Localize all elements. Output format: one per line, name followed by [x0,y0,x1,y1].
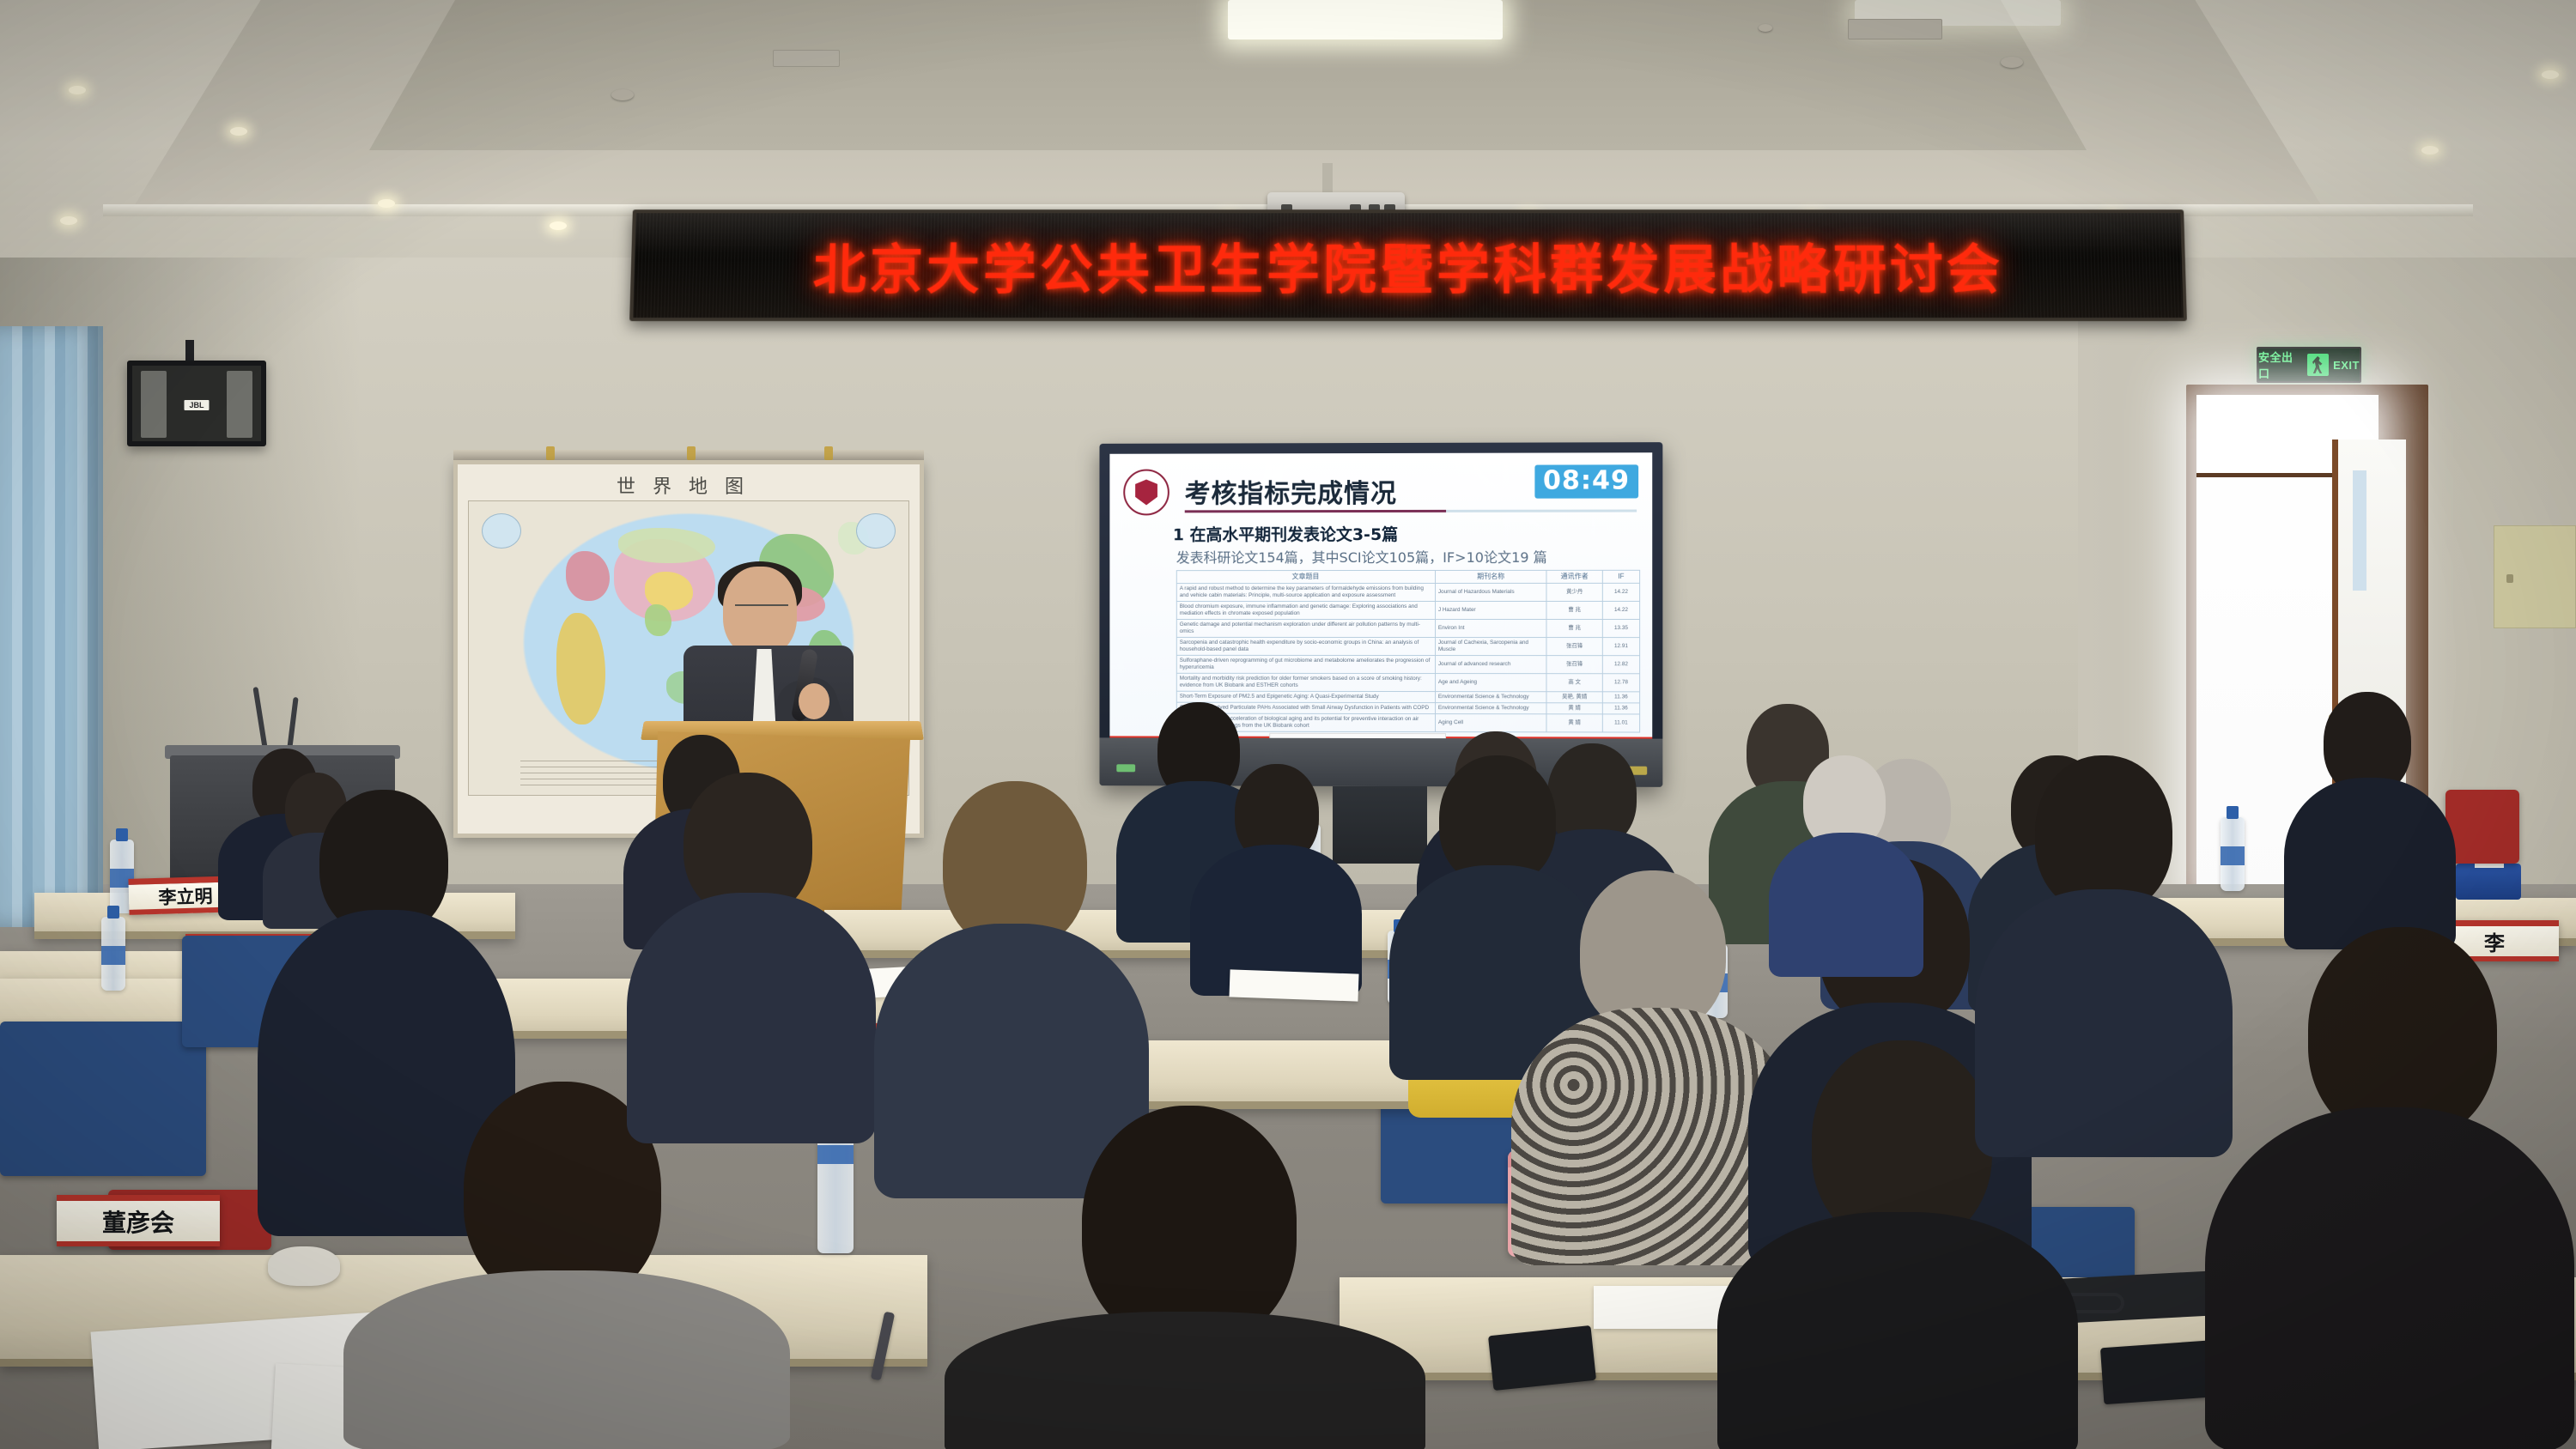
audience-member [1190,764,1362,996]
col-if: IF [1602,570,1639,583]
foreground-attendee [2205,927,2574,1449]
table-row: A rapid and robust method to determine t… [1176,583,1639,601]
foreground-attendee [1975,755,2233,1150]
map-clip [687,446,696,460]
landmass-europe [566,551,610,601]
foreground-attendee [945,1106,1425,1449]
slide-title: 考核指标完成情况 [1185,472,1397,510]
cell-title: Sarcopenia and catastrophic health expen… [1176,637,1435,655]
cell-title: Mortality and morbidity risk prediction … [1176,673,1435,691]
ceiling-downlight [69,86,86,94]
jbl-wall-speaker: JBL [127,361,266,446]
computer-mouse[interactable] [268,1246,340,1286]
shoulders [1717,1212,2078,1449]
audience-member [2284,692,2456,949]
head [1082,1106,1297,1346]
tissue-box [2456,864,2521,900]
ceiling-downlight [378,199,395,208]
audience-member [1769,755,1923,970]
chair-red[interactable] [2445,790,2519,864]
cell-author: 黄少丹 [1546,583,1602,601]
chair-blue[interactable] [0,1022,206,1176]
cell-if: 11.01 [1602,714,1639,732]
led-banner-text: 北京大学公共卫生学院暨学科群发展战略研讨会 [812,227,2004,304]
cell-title: Sulforaphane-driven reprogramming of gut… [1176,655,1435,673]
table-header-row: 文章题目 期刊名称 通讯作者 IF [1176,570,1639,583]
wall-utility-panel [2494,525,2576,628]
exit-sign-left-text: 安全出口 [2258,349,2303,381]
col-author: 通讯作者 [1546,570,1602,583]
ceiling-downlight [60,216,77,225]
slide-section-heading: 1 在高水平期刊发表论文3-5篇 [1173,522,1398,545]
cell-title: Genetic damage and potential mechanism e… [1176,619,1435,637]
ceiling-downlight [550,221,567,230]
landmass-siberia [618,528,715,563]
cell-journal: Journal of Cachexia, Sarcopenia and Musc… [1435,638,1546,656]
cell-if: 12.78 [1602,674,1639,692]
cell-journal: Age and Ageing [1435,674,1546,692]
cell-author: 曹 兆 [1546,620,1602,638]
placard-text: 董彦会 [102,1204,174,1239]
shoulders [2205,1107,2574,1449]
window-curtain [0,326,103,927]
cell-journal: Journal of Hazardous Materials [1435,583,1546,601]
cell-if: 11.36 [1602,703,1639,714]
ceiling-downlight [2542,70,2559,79]
university-logo-icon [1123,470,1170,516]
cell-journal: Environ Int [1435,620,1546,638]
cell-if: 13.35 [1602,620,1639,638]
cell-if: 14.22 [1602,583,1639,601]
placard-text: 李立明 [158,882,213,910]
ceiling-tube-light [1228,0,1503,39]
exit-sign: 安全出口 EXIT [2257,347,2361,383]
col-title: 文章题目 [1176,570,1435,583]
smoke-detector [611,89,634,100]
ceiling-downlight [2421,146,2439,155]
conference-room-photo: 北京大学公共卫生学院暨学科群发展战略研讨会 JBL 世界地图 [0,0,2576,1449]
ceiling-air-vent [773,50,840,67]
cell-author: 吴艳, 黄婧 [1546,692,1602,703]
led-banner: 北京大学公共卫生学院暨学科群发展战略研讨会 [629,209,2187,321]
table-row: Genetic damage and potential mechanism e… [1176,619,1639,637]
exit-sign-right-text: EXIT [2333,359,2360,372]
shoulders [1975,889,2233,1157]
slide-title-rule [1185,510,1637,513]
ceiling-air-vent [1848,19,1942,39]
document-paper [1229,969,1358,1001]
cell-author: 黄 婧 [1546,714,1602,732]
ceiling-downlight [230,127,247,136]
cell-author: 张召锋 [1546,638,1602,656]
shoulders [1769,833,1923,977]
cell-author: 高 文 [1546,674,1602,692]
cell-if: 14.22 [1602,601,1639,619]
cell-if: 12.82 [1602,656,1639,674]
map-inset-circle-right [856,513,896,549]
cell-journal: Journal of advanced research [1435,656,1546,674]
map-clip [824,446,833,460]
cell-title: A rapid and robust method to determine t… [1176,583,1435,601]
shoulders [945,1312,1425,1449]
cell-journal: Aging Cell [1435,714,1546,732]
cell-title: Short-Term Exposure of PM2.5 and Epigene… [1176,691,1435,702]
cell-title: Blood chromium exposure, immune inflamma… [1176,601,1435,619]
cell-journal: Environmental Science & Technology [1435,703,1546,714]
running-man-icon [2307,354,2329,376]
glasses-icon [735,604,788,615]
landmass-india [645,604,671,637]
slide-content: 考核指标完成情况 08:49 1 在高水平期刊发表论文3-5篇 发表科研论文15… [1109,452,1652,738]
smoke-detector [1759,24,1772,32]
slide-timer-badge: 08:49 [1534,464,1638,498]
table-row: Blood chromium exposure, immune inflamma… [1176,601,1639,619]
world-map-title: 世界地图 [458,471,920,499]
cell-author: 张召锋 [1546,656,1602,674]
shoulders [2284,778,2456,949]
shoulders [627,893,876,1143]
smoke-detector [2001,57,2023,68]
cell-author: 黄 婧 [1546,703,1602,714]
shoulders [343,1270,790,1449]
landmass-africa [556,613,605,724]
table-row: Sulforaphane-driven reprogramming of gut… [1176,655,1639,673]
col-journal: 期刊名称 [1435,570,1546,583]
smartphone [1488,1325,1596,1391]
table-row: Short-Term Exposure of PM2.5 and Epigene… [1176,691,1639,703]
cell-journal: Environmental Science & Technology [1435,692,1546,703]
jbl-logo: JBL [184,400,209,410]
table-row: Mortality and morbidity risk prediction … [1176,673,1639,692]
cell-author: 曹 兆 [1546,601,1602,619]
table-row: Sarcopenia and catastrophic health expen… [1176,637,1639,655]
cell-journal: J Hazard Mater [1435,601,1546,619]
water-bottle [101,917,125,991]
presenter-hand [799,683,829,719]
map-inset-circle-left [482,513,521,549]
cell-if: 11.36 [1602,692,1639,703]
door-vision-slit [2353,470,2366,591]
cell-if: 12.91 [1602,638,1639,656]
foreground-attendee [627,773,876,1142]
map-clip [546,446,555,460]
slide-subtitle: 发表科研论文154篇，其中SCI论文105篇，IF>10论文19 篇 [1176,546,1547,567]
placard-dong-yanhui: 董彦会 [57,1195,220,1246]
